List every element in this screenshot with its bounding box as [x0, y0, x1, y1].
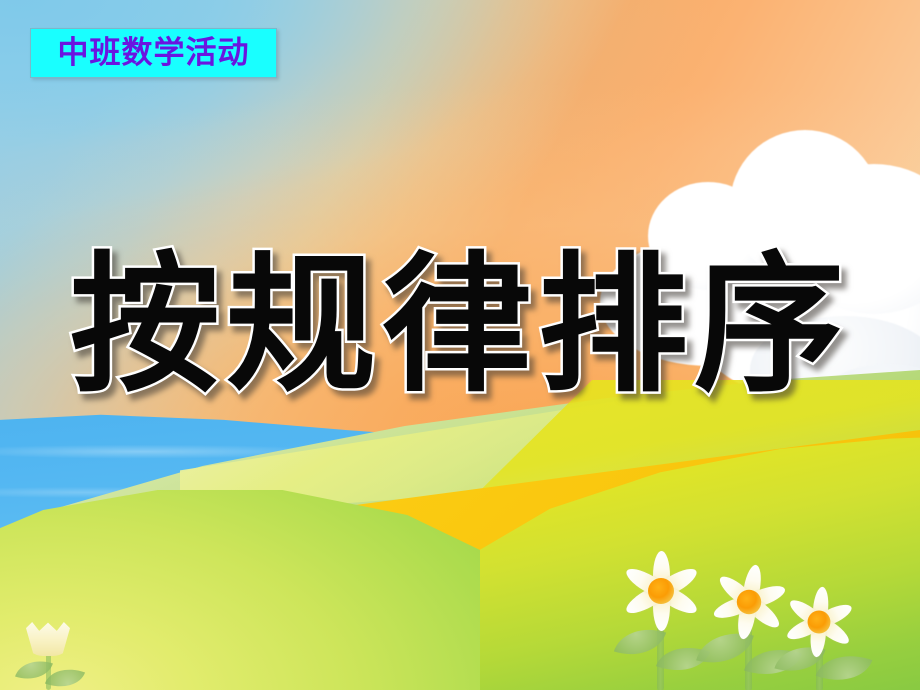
tulip-small	[26, 622, 70, 656]
daisy-medium	[714, 567, 784, 637]
lesson-category-label: 中班数学活动	[58, 38, 250, 69]
lesson-category-badge[interactable]: 中班数学活动	[30, 28, 277, 78]
flower-cluster-left	[24, 612, 114, 690]
daisy-large	[620, 550, 702, 632]
daisy-small	[788, 591, 850, 653]
flower-core	[737, 590, 761, 614]
flower-core	[648, 578, 674, 604]
slide-canvas: 中班数学活动 按规律排序	[0, 0, 920, 690]
flower-cluster-right	[600, 525, 920, 690]
flower-core	[808, 611, 831, 634]
